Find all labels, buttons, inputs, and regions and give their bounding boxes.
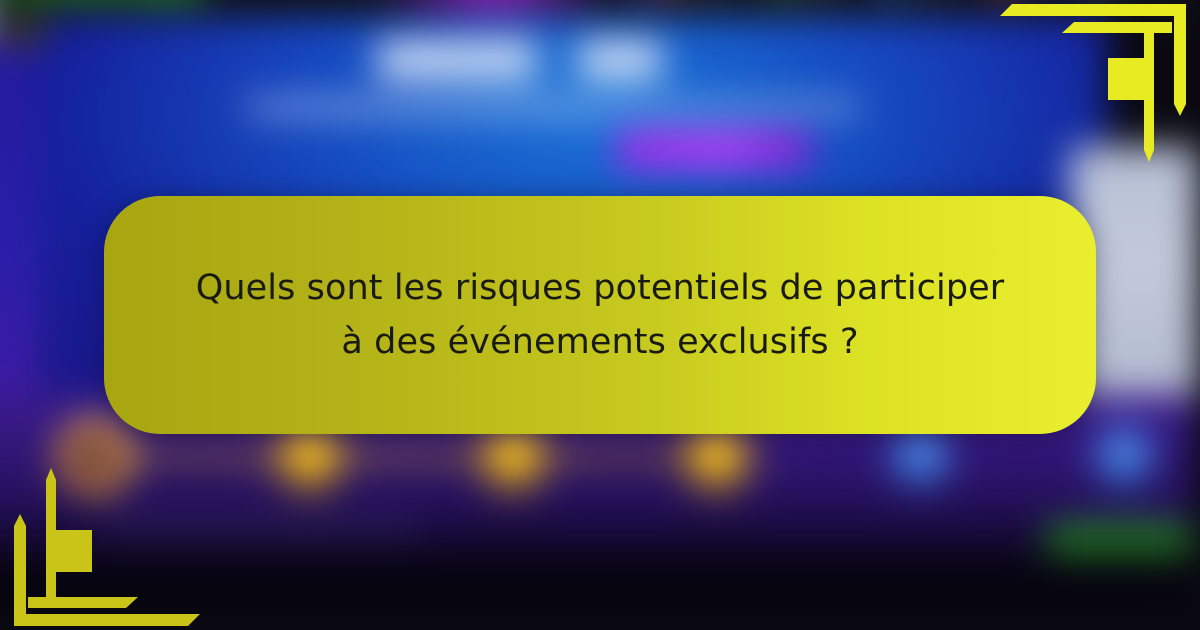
background-hero-subtitle-2: [271, 100, 589, 113]
background-hero-cta-button[interactable]: [616, 132, 812, 168]
background-toolbar-green-2: [134, 0, 204, 1]
background-hero-title-part-2: [579, 40, 662, 78]
background-thumbnail-2: [0, 15, 45, 47]
question-text: Quels sont les risques potentiels de par…: [185, 261, 1015, 370]
background-bottom-vignette: [0, 516, 1194, 606]
background-top-glow: [377, 0, 610, 17]
background-progress-track: [102, 450, 749, 463]
background-hero-title-part-1: [377, 40, 536, 78]
progress-node-reward-circle-0[interactable]: [57, 418, 133, 494]
question-card: Quels sont les risques potentiels de par…: [104, 196, 1096, 434]
screenshot-root: Quels sont les risques potentiels de par…: [0, 0, 1200, 630]
